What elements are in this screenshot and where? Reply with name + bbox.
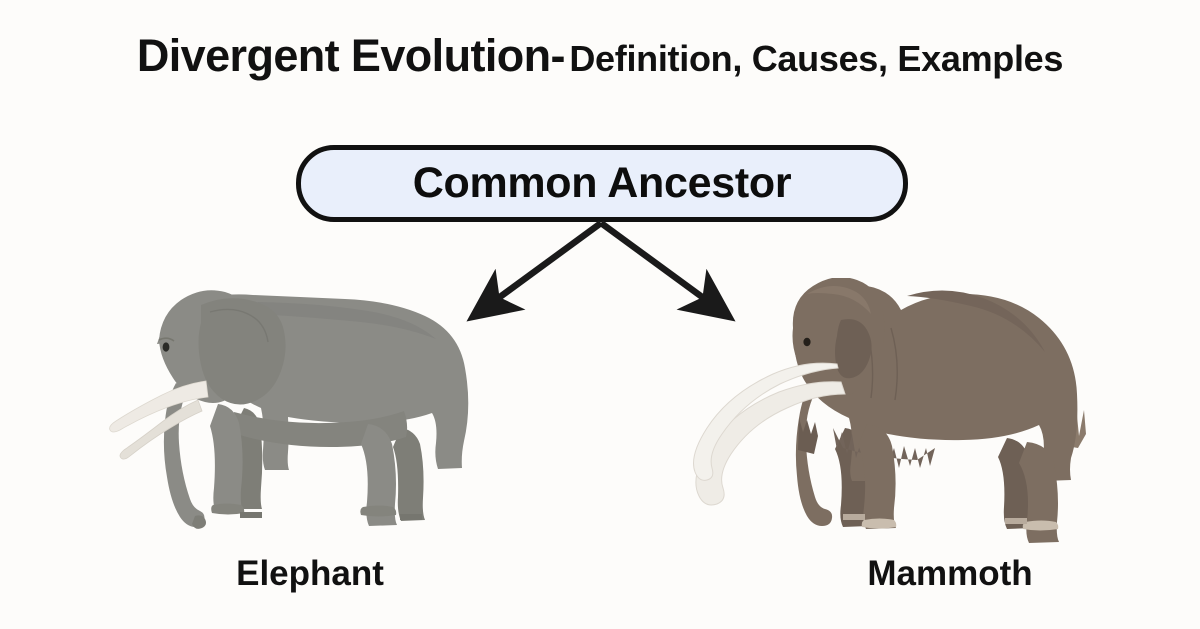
diagram-canvas: Divergent Evolution- Definition, Causes,… [0, 0, 1200, 629]
title-subtitle: Definition, Causes, Examples [569, 38, 1063, 79]
arrow-to-elephant [478, 223, 601, 313]
common-ancestor-node: Common Ancestor [296, 145, 908, 222]
elephant-front-foot-near [211, 504, 244, 515]
mammoth-front-hoof-near [862, 519, 897, 529]
elephant-eye [163, 342, 170, 351]
elephant-caption: Elephant [110, 554, 510, 594]
title-main: Divergent Evolution- [137, 30, 565, 81]
elephant-front-leg-near [210, 404, 243, 513]
elephant-hind-foot-near [360, 506, 396, 517]
common-ancestor-label: Common Ancestor [413, 159, 792, 208]
mammoth-body-group [694, 278, 1087, 543]
page-title: Divergent Evolution- Definition, Causes,… [0, 30, 1200, 82]
elephant-body-group [110, 290, 469, 529]
elephant-illustration [58, 288, 488, 538]
elephant-hind-leg-far [393, 428, 425, 521]
mammoth-eye [803, 338, 810, 346]
mammoth-caption: Mammoth [750, 554, 1150, 594]
mammoth-illustration [655, 278, 1105, 543]
mammoth-hind-hoof-near [1023, 521, 1059, 531]
